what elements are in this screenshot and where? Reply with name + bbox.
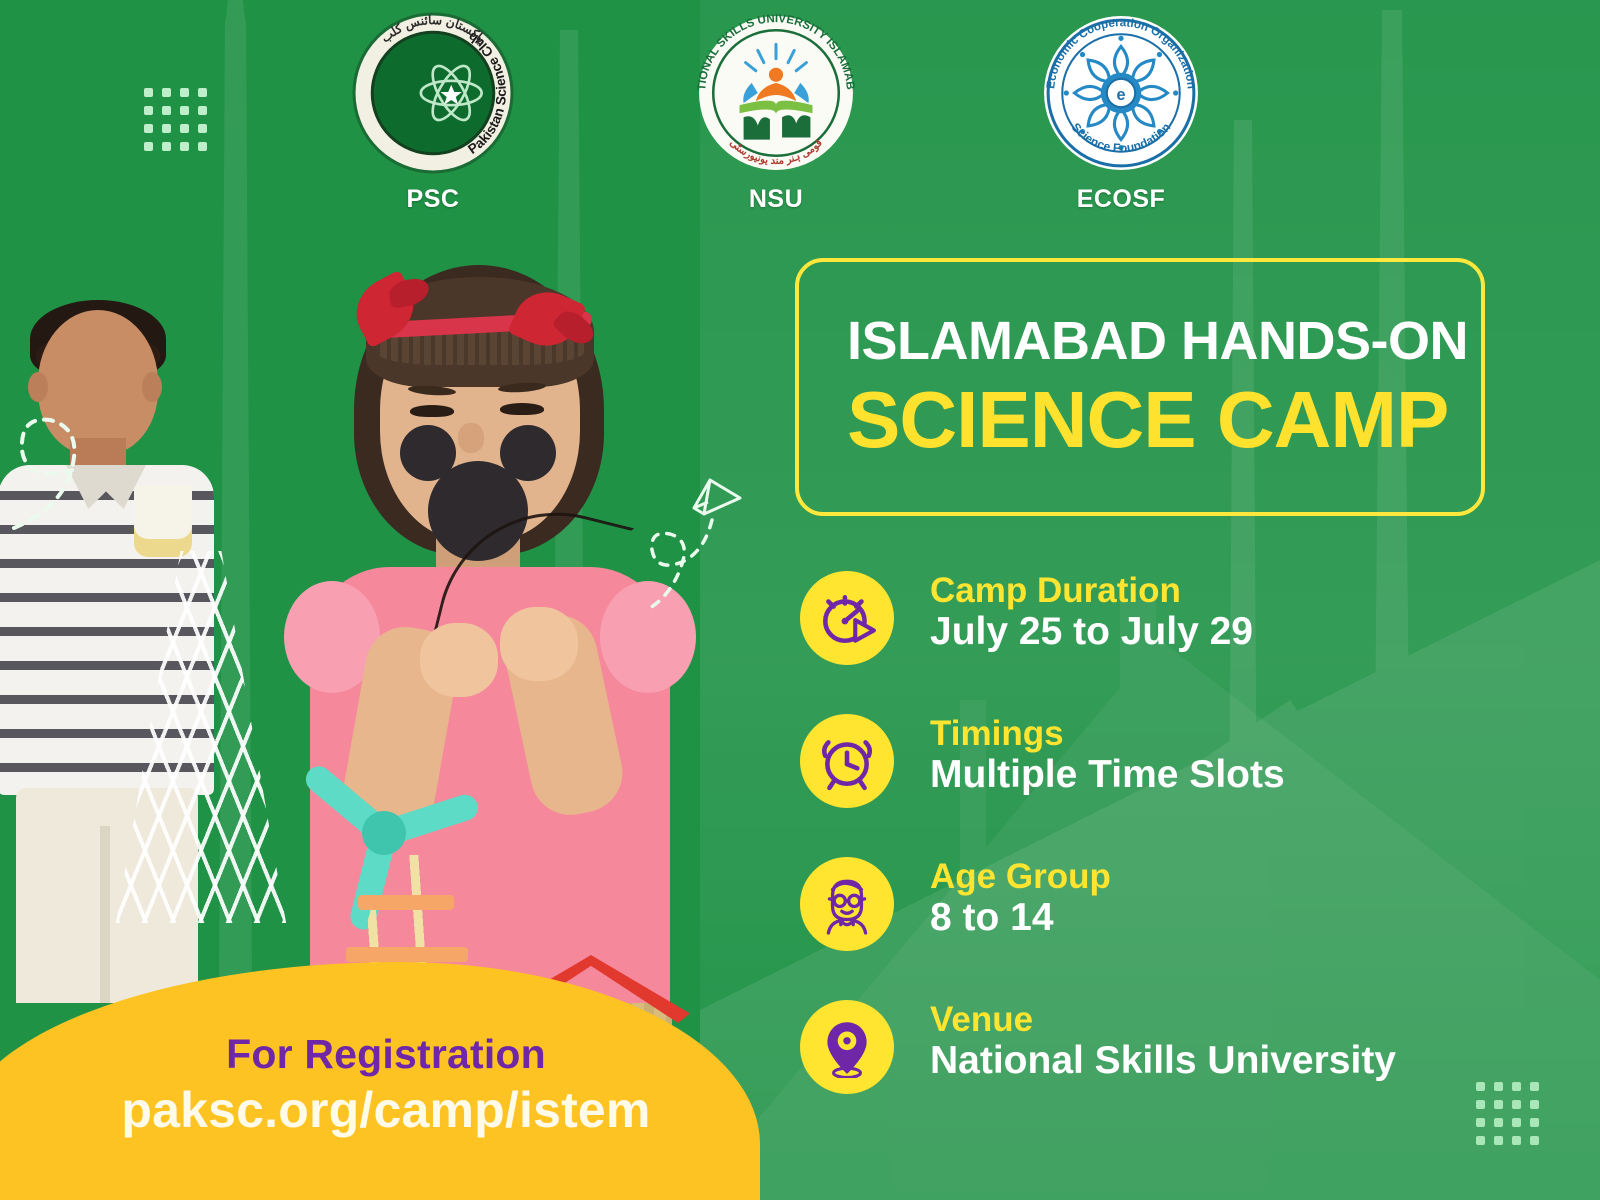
registration-url[interactable]: paksc.org/camp/istem — [66, 1083, 706, 1138]
alarm-clock-icon — [800, 714, 894, 808]
children-photo — [0, 255, 760, 1045]
sponsor-logos: Pakistan Science Club پاکستان سائنس کلب … — [0, 0, 1600, 205]
stopwatch-icon — [800, 571, 894, 665]
info-value: July 25 to July 29 — [930, 610, 1253, 654]
info-value: National Skills University — [930, 1039, 1396, 1083]
page-title-line1: ISLAMABAD HANDS-ON — [847, 310, 1467, 372]
camp-details-list: Camp Duration July 25 to July 29 — [800, 565, 1580, 1137]
registration-content: For Registration paksc.org/camp/istem — [66, 1032, 706, 1138]
info-label: Age Group — [930, 857, 1111, 896]
info-label: Timings — [930, 714, 1285, 753]
info-row-venue: Venue National Skills University — [800, 994, 1580, 1137]
poster-canvas: Pakistan Science Club پاکستان سائنس کلب … — [0, 0, 1600, 1200]
info-row-age-group: Age Group 8 to 14 — [800, 851, 1580, 994]
registration-title: For Registration — [66, 1032, 706, 1077]
svg-text:e: e — [1116, 86, 1125, 104]
info-row-camp-duration: Camp Duration July 25 to July 29 — [800, 565, 1580, 708]
nsu-logo-icon: NATIONAL SKILLS UNIVERSITY ISLAMABAD قوم… — [695, 12, 857, 174]
logo-ecosf: e Economic Cooperation Organization Scie… — [1040, 12, 1202, 214]
map-pin-icon — [800, 1000, 894, 1094]
info-label: Venue — [930, 1000, 1396, 1039]
girl-figure — [268, 255, 708, 1045]
logo-nsu-caption: NSU — [695, 185, 857, 214]
ecosf-logo-icon: e Economic Cooperation Organization Scie… — [1040, 12, 1202, 174]
logo-ecosf-caption: ECOSF — [1040, 185, 1202, 214]
info-value: Multiple Time Slots — [930, 753, 1285, 797]
page-title-line2: SCIENCE CAMP — [847, 380, 1467, 460]
logo-psc: Pakistan Science Club پاکستان سائنس کلب … — [352, 12, 514, 214]
info-row-timings: Timings Multiple Time Slots — [800, 708, 1580, 851]
straw-tower-model — [116, 495, 286, 925]
title-card: ISLAMABAD HANDS-ON SCIENCE CAMP — [795, 258, 1485, 516]
student-face-icon — [800, 857, 894, 951]
psc-logo-icon: Pakistan Science Club پاکستان سائنس کلب — [352, 12, 514, 174]
logo-psc-caption: PSC — [352, 185, 514, 214]
info-label: Camp Duration — [930, 571, 1253, 610]
logo-nsu: NATIONAL SKILLS UNIVERSITY ISLAMABAD قوم… — [695, 12, 857, 214]
info-value: 8 to 14 — [930, 896, 1111, 940]
